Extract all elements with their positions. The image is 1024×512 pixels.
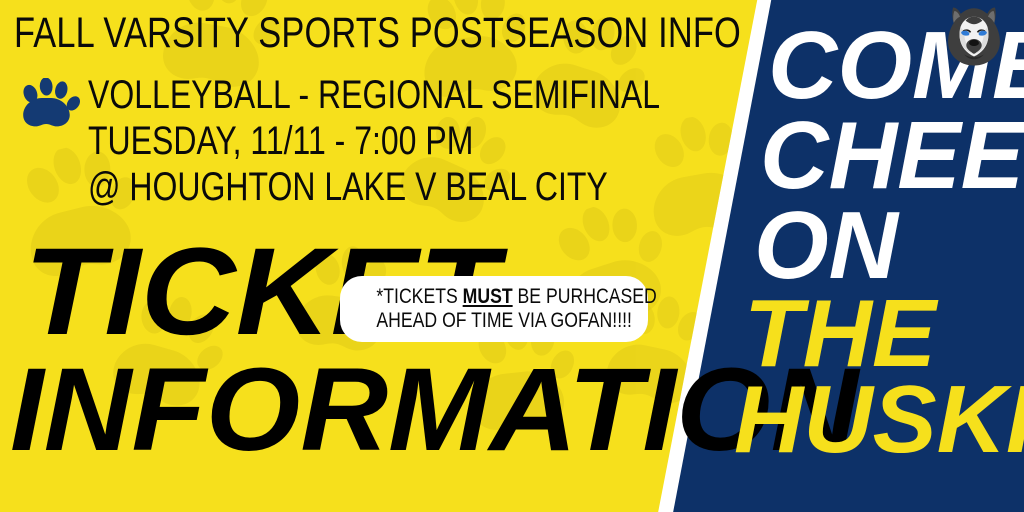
page-title: FALL VARSITY SPORTS POSTSEASON INFO	[14, 12, 741, 55]
headline-information: INFORMATION	[10, 362, 858, 459]
detail-text: @ HOUGHTON LAKE V BEAL CITY	[88, 167, 608, 207]
cheer-word-the: THE	[744, 296, 936, 373]
navy-panel-content: COME CHEER ON THE HUSKIES!	[760, 0, 1024, 512]
detail-line-sport: VOLLEYBALL - REGIONAL SEMIFINAL	[0, 72, 660, 118]
callout-emphasis-must: MUST	[463, 285, 513, 308]
detail-line-location: @ HOUGHTON LAKE V BEAL CITY	[0, 164, 660, 210]
paw-print-icon	[20, 78, 82, 130]
event-details: VOLLEYBALL - REGIONAL SEMIFINAL TUESDAY,…	[0, 72, 660, 210]
callout-line-1: *TICKETS MUST BE PURHCASED	[376, 285, 611, 309]
ticket-notice-callout: *TICKETS MUST BE PURHCASED AHEAD OF TIME…	[340, 276, 648, 342]
detail-line-datetime: TUESDAY, 11/11 - 7:00 PM	[0, 118, 660, 164]
yellow-panel-content: FALL VARSITY SPORTS POSTSEASON INFO VOLL…	[0, 0, 760, 512]
callout-text-pre: *TICKETS	[376, 285, 462, 308]
cheer-word-on: ON	[754, 208, 898, 285]
husky-mascot-logo	[938, 4, 1010, 74]
detail-text: TUESDAY, 11/11 - 7:00 PM	[88, 121, 473, 161]
cheer-word-huskies: HUSKIES!	[734, 382, 1024, 459]
sports-postseason-poster: FALL VARSITY SPORTS POSTSEASON INFO VOLL…	[0, 0, 1024, 512]
detail-text: VOLLEYBALL - REGIONAL SEMIFINAL	[88, 75, 660, 115]
callout-line-2: AHEAD OF TIME VIA GOFAN!!!!	[376, 309, 611, 333]
cheer-word-cheer: CHEER	[760, 118, 1024, 195]
callout-text-post: BE PURHCASED	[513, 285, 657, 308]
